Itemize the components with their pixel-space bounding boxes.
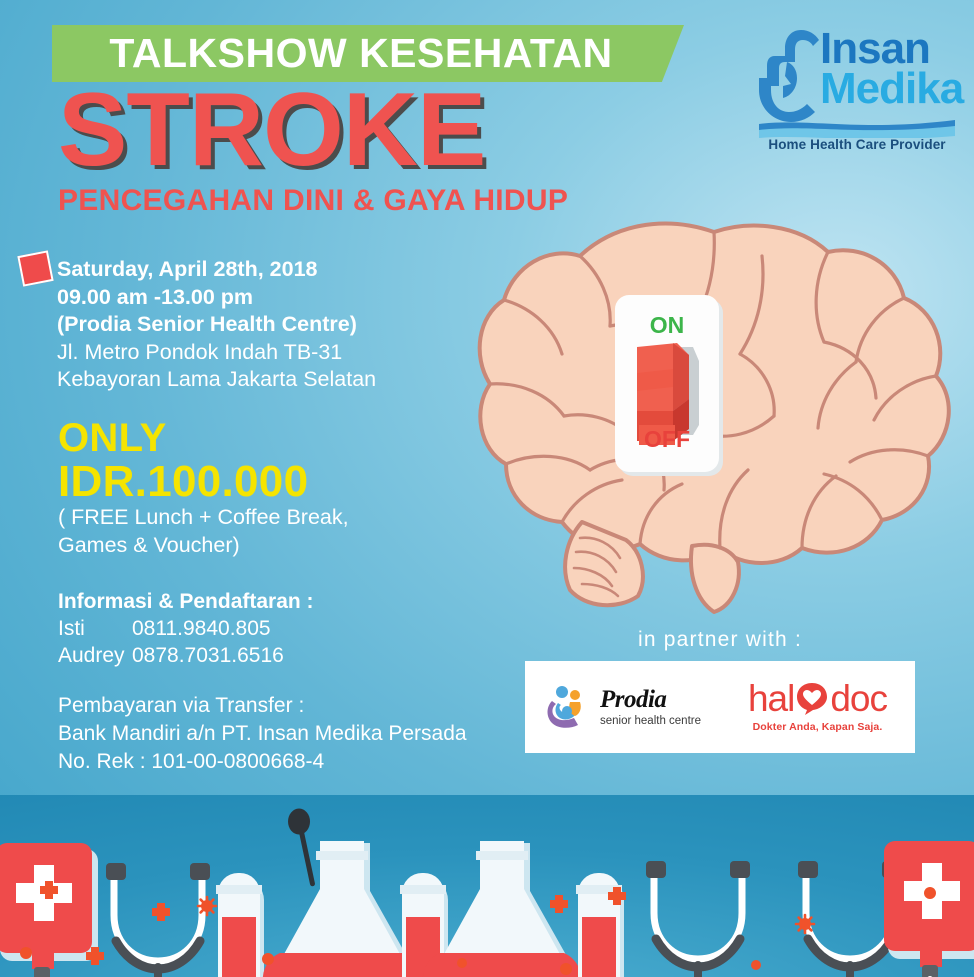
price-includes: ( FREE Lunch + Coffee Break, Games & Vou… (58, 503, 349, 559)
event-line: (Prodia Senior Health Centre) (57, 311, 477, 339)
partner-logos-box: Prodia senior health centre hal doc Dokt… (525, 661, 915, 753)
page-title: STROKE (58, 78, 485, 182)
poster-canvas: ON OFF (0, 0, 974, 977)
switch-off-label: OFF (644, 426, 690, 452)
prodia-logo: Prodia senior health centre (525, 683, 720, 731)
halodoc-logo: hal doc Dokter Anda, Kapan Saja. (720, 681, 915, 733)
page-subtitle: PENCEGAHAN DINI & GAYA HIDUP (58, 186, 568, 216)
contact-row: Isti 0811.9840.805 (58, 615, 314, 642)
contact-block: Informasi & Pendaftaran : Isti 0811.9840… (58, 588, 314, 669)
halodoc-tagline: Dokter Anda, Kapan Saja. (753, 721, 883, 733)
logo-word-medika: Medika (820, 68, 963, 110)
payment-heading: Pembayaran via Transfer : (58, 692, 467, 720)
halodoc-name-left: hal (748, 681, 794, 716)
payment-block: Pembayaran via Transfer : Bank Mandiri a… (58, 692, 467, 776)
includes-line: ( FREE Lunch + Coffee Break, (58, 503, 349, 531)
event-line: Jl. Metro Pondok Indah TB-31 (57, 339, 477, 367)
contact-heading: Informasi & Pendaftaran : (58, 588, 314, 615)
prodia-name: Prodia (600, 687, 666, 712)
logo-tagline: Home Health Care Provider (757, 137, 957, 152)
payment-bank: Bank Mandiri a/n PT. Insan Medika Persad… (58, 720, 467, 748)
halodoc-heart-bubble-icon (795, 681, 829, 715)
event-line: Kebayoran Lama Jakarta Selatan (57, 366, 477, 394)
switch-on-label: ON (650, 312, 685, 338)
partner-label: in partner with : (525, 628, 915, 652)
contact-phone[interactable]: 0811.9840.805 (132, 615, 271, 642)
includes-line: Games & Voucher) (58, 531, 349, 559)
contact-name: Isti (58, 615, 132, 642)
insan-medika-logo: Insan Medika Home Health Care Provider (757, 26, 957, 151)
prodia-sublabel: senior health centre (600, 715, 701, 728)
caregiver-profile-icon (757, 28, 819, 126)
event-details: Saturday, April 28th, 2018 09.00 am -13.… (57, 256, 477, 394)
date-marker-icon (17, 250, 53, 286)
medical-icons-strip (0, 795, 974, 977)
brain-switch-icon: ON OFF (615, 295, 727, 480)
contact-row: Audrey 0878.7031.6516 (58, 642, 314, 669)
price-label: ONLY (58, 418, 308, 459)
event-line: Saturday, April 28th, 2018 (57, 256, 477, 284)
ribbon-title: TALKSHOW KESEHATAN (109, 30, 626, 77)
payment-account: No. Rek : 101-00-0800668-4 (58, 748, 467, 776)
logo-wave-divider (759, 118, 955, 138)
event-line: 09.00 am -13.00 pm (57, 284, 477, 312)
halodoc-name: hal doc (748, 681, 887, 717)
halodoc-name-right: doc (830, 681, 887, 716)
price-block: ONLY IDR.100.000 (58, 418, 308, 505)
price-amount: IDR.100.000 (58, 459, 308, 505)
contact-name: Audrey (58, 642, 132, 669)
prodia-figures-icon (544, 683, 596, 731)
contact-phone[interactable]: 0878.7031.6516 (132, 642, 284, 669)
